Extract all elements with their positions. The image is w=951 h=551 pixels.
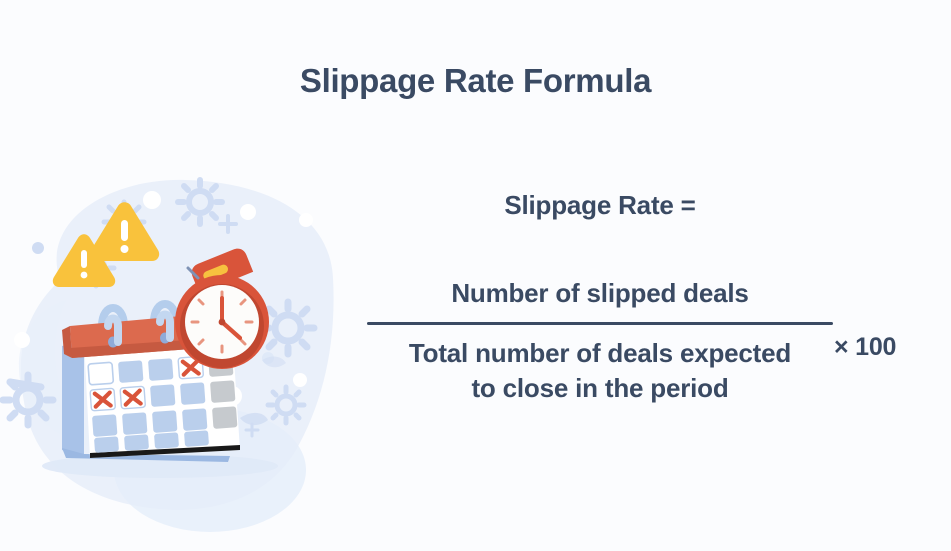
calendar-cell-blue xyxy=(118,360,143,383)
calendar-cell-white-empty xyxy=(88,362,113,385)
warning-exclamation-dot-large xyxy=(121,245,129,253)
slide-canvas: Slippage Rate Formula xyxy=(0,0,951,551)
formula-multiplier: × 100 xyxy=(834,333,896,362)
calendar-cell-blue xyxy=(122,412,147,435)
calendar-cell-gray xyxy=(212,406,237,429)
decor-dot-4 xyxy=(293,373,307,387)
calendar-cell-blue xyxy=(148,358,173,381)
page-title: Slippage Rate Formula xyxy=(0,62,951,100)
calendar-cell-gray xyxy=(210,380,235,403)
calendar-cell-blue xyxy=(182,408,207,431)
clock-center-pin xyxy=(219,319,226,326)
calendar-cell-blue xyxy=(124,434,149,451)
calendar-cell-blue xyxy=(92,414,117,437)
decor-dot-5 xyxy=(14,332,30,348)
formula-denominator-line-2: to close in the period xyxy=(340,371,860,406)
formula-numerator: Number of slipped deals xyxy=(340,278,860,322)
decor-dot-1 xyxy=(143,191,161,209)
calendar-cell-blue xyxy=(152,410,177,433)
decor-dot-2 xyxy=(240,204,256,220)
warning-exclamation-bar-small xyxy=(81,250,87,268)
decor-dot-6 xyxy=(32,242,44,254)
calendar-cell-blue xyxy=(180,382,205,405)
formula-denominator-line-1: Total number of deals expected xyxy=(340,336,860,371)
calendar-clock-warning-illustration xyxy=(0,150,340,540)
warning-exclamation-dot-small xyxy=(81,272,88,279)
formula-denominator: Total number of deals expected to close … xyxy=(340,325,860,405)
warning-exclamation-bar-large xyxy=(121,220,128,241)
formula-fraction: Number of slipped deals Total number of … xyxy=(340,278,860,405)
calendar-cell-blue xyxy=(154,432,179,449)
formula-block: Slippage Rate = Number of slipped deals … xyxy=(340,190,951,460)
formula-left-hand-side: Slippage Rate = xyxy=(340,190,860,221)
calendar-cell-blue xyxy=(184,430,209,447)
calendar-cell-blue xyxy=(150,384,175,407)
decor-dot-8 xyxy=(299,213,313,227)
calendar-cell-blue xyxy=(94,436,119,453)
